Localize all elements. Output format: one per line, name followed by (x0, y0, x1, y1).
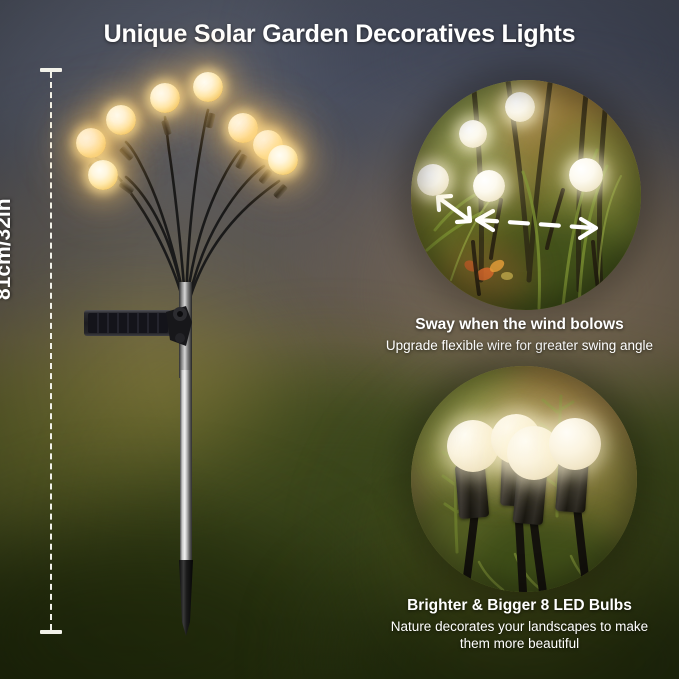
product-vector (0, 0, 360, 679)
led-bulb (150, 83, 180, 113)
feature-inset-bulbs (411, 366, 637, 592)
led-bulb (193, 72, 223, 102)
inset-bulbs-vector (411, 366, 637, 592)
flower-cluster (462, 257, 513, 282)
glowing-bulb (569, 158, 603, 192)
led-bulb (268, 145, 298, 175)
feature-caption-bulbs: Brighter & Bigger 8 LED Bulbs Nature dec… (360, 597, 679, 652)
led-bulb-closeup (447, 420, 499, 472)
bulb-socket (455, 463, 490, 519)
short-double-arrow-icon (438, 196, 470, 222)
feature-subtitle-line2: them more beautiful (460, 636, 579, 651)
glowing-bulb (473, 170, 505, 202)
bulb-stems (465, 486, 587, 592)
led-bulb-closeup (549, 418, 601, 470)
glowing-bulb (459, 120, 487, 148)
led-bulb (88, 160, 118, 190)
ground-spike-tip (179, 560, 193, 636)
bulb-socket (555, 457, 589, 513)
bulb-socket (500, 454, 531, 507)
led-bulb-closeup (491, 414, 541, 464)
stake-pole (180, 370, 192, 574)
product-illustration (0, 0, 360, 679)
feature-subtitle: Upgrade flexible wire for greater swing … (360, 337, 679, 354)
feature-subtitle: Nature decorates your landscapes to make… (360, 618, 679, 652)
bulb-socket (513, 467, 548, 525)
feature-inset-sway (411, 80, 641, 310)
led-bulb-closeup (507, 426, 561, 480)
glowing-bulb (417, 164, 449, 196)
glowing-bulb (505, 92, 535, 122)
inset-blur-blob (531, 120, 641, 270)
feature-title: Sway when the wind bolows (360, 316, 679, 334)
inset-sway-vector (411, 80, 641, 310)
led-bulb (106, 105, 136, 135)
inset-blur-blob (441, 386, 561, 496)
long-dashed-double-arrow-icon (477, 211, 596, 238)
led-bulb (76, 128, 106, 158)
product-marketing-image: Unique Solar Garden Decoratives Lights 8… (0, 0, 679, 679)
feature-title: Brighter & Bigger 8 LED Bulbs (360, 597, 679, 615)
feature-subtitle-line1: Nature decorates your landscapes to make (391, 619, 648, 634)
solar-panel (84, 310, 172, 336)
feature-caption-sway: Sway when the wind bolows Upgrade flexib… (360, 316, 679, 354)
